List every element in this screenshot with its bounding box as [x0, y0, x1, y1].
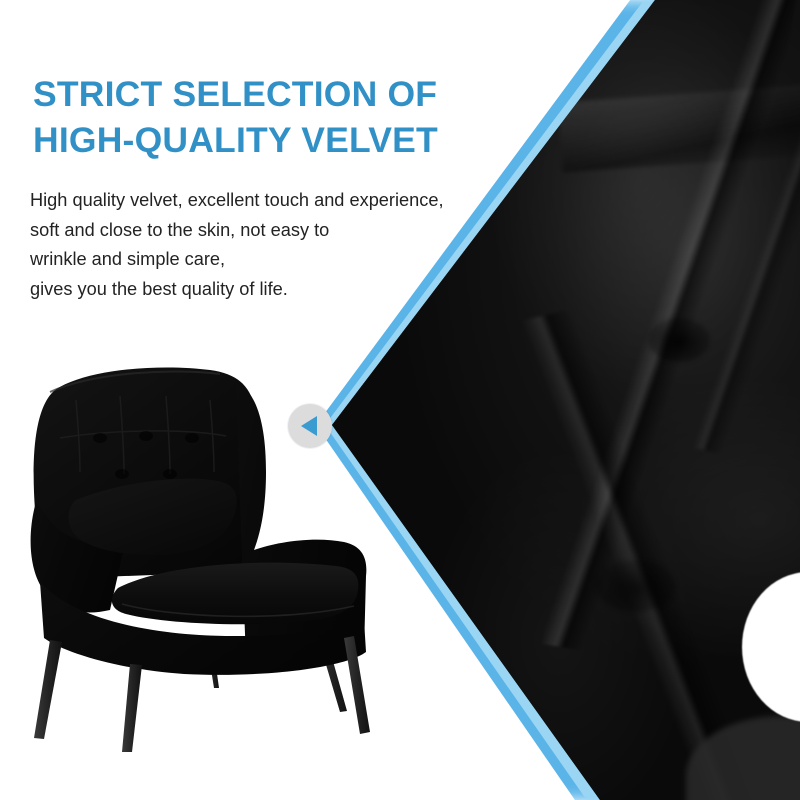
body-line-2: soft and close to the skin, not easy to [30, 216, 530, 245]
body-copy: High quality velvet, excellent touch and… [30, 186, 530, 304]
velvet-tuft-dimple [648, 318, 710, 362]
headline-line-1: STRICT SELECTION OF [33, 71, 553, 117]
headline-line-2: HIGH-QUALITY VELVET [33, 117, 553, 163]
body-line-4: gives you the best quality of life. [30, 275, 530, 304]
marketing-banner: STRICT SELECTION OF HIGH-QUALITY VELVET … [0, 0, 800, 800]
body-line-3: wrinkle and simple care, [30, 245, 530, 274]
triangle-left-icon [301, 416, 317, 436]
zoom-pointer-badge[interactable] [288, 404, 332, 448]
velvet-tuft-dimple [596, 560, 676, 612]
page-title: STRICT SELECTION OF HIGH-QUALITY VELVET [33, 71, 553, 163]
body-line-1: High quality velvet, excellent touch and… [30, 186, 530, 215]
